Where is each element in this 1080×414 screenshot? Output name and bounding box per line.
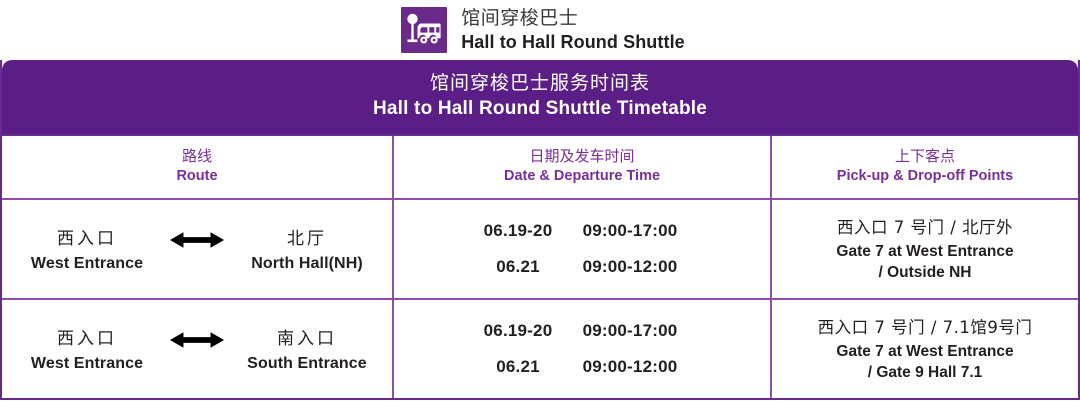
- route-origin-cn: 西入口: [57, 224, 117, 249]
- brand-title-group: 馆间穿梭巴士 Hall to Hall Round Shuttle: [461, 9, 685, 51]
- route-destination-en: South Entrance: [247, 355, 367, 373]
- schedule-date: 06.21: [470, 358, 566, 375]
- column-header-points: 上下客点 Pick-up & Drop-off Points: [772, 136, 1078, 198]
- schedule-time: 09:00-12:00: [566, 258, 694, 275]
- points-en-line1: Gate 7 at West Entrance: [836, 342, 1013, 363]
- route-origin-cn: 西入口: [57, 324, 117, 349]
- points-en-line2: / Gate 9 Hall 7.1: [868, 363, 983, 384]
- schedule-line: 06.21 09:00-12:00: [470, 258, 694, 275]
- schedule-time: 09:00-17:00: [566, 222, 694, 239]
- column-header-datetime-en: Date & Departure Time: [504, 168, 660, 185]
- schedule-cell: 06.19-20 09:00-17:00 06.21 09:00-12:00: [392, 300, 772, 398]
- shuttle-bus-stop-icon: [401, 7, 447, 53]
- schedule-date: 06.21: [470, 258, 566, 275]
- table-row: 西入口 West Entrance 北厅 North Hall(NH) 06.1…: [2, 200, 1078, 300]
- schedule-date: 06.19-20: [470, 322, 566, 339]
- route-origin: 西入口 West Entrance: [12, 324, 162, 373]
- timetable-banner: 馆间穿梭巴士服务时间表 Hall to Hall Round Shuttle T…: [2, 60, 1078, 134]
- column-header-route: 路线 Route: [2, 136, 392, 198]
- table-row: 西入口 West Entrance 南入口 South Entrance 06.…: [2, 300, 1078, 398]
- route-destination: 南入口 South Entrance: [232, 324, 382, 373]
- shuttle-timetable: 馆间穿梭巴士服务时间表 Hall to Hall Round Shuttle T…: [0, 60, 1080, 400]
- column-header-points-cn: 上下客点: [895, 148, 955, 165]
- brand-title-en: Hall to Hall Round Shuttle: [461, 33, 685, 51]
- brand-title-cn: 馆间穿梭巴士: [461, 9, 685, 28]
- column-header-route-en: Route: [176, 168, 217, 185]
- schedule-line: 06.19-20 09:00-17:00: [470, 322, 694, 339]
- double-headed-arrow-icon: [162, 330, 232, 368]
- points-en-line2: / Outside NH: [878, 263, 971, 284]
- column-header-points-en: Pick-up & Drop-off Points: [837, 168, 1013, 185]
- schedule-date: 06.19-20: [470, 222, 566, 239]
- brand-bar: 馆间穿梭巴士 Hall to Hall Round Shuttle: [0, 0, 1080, 60]
- schedule-time: 09:00-12:00: [566, 358, 694, 375]
- points-cn: 西入口 7 号门 / 7.1馆9号门: [818, 314, 1033, 338]
- timetable-title-cn: 馆间穿梭巴士服务时间表: [2, 73, 1078, 94]
- points-cell: 西入口 7 号门 / 7.1馆9号门 Gate 7 at West Entran…: [772, 300, 1078, 398]
- route-origin: 西入口 West Entrance: [12, 224, 162, 273]
- points-cell: 西入口 7 号门 / 北厅外 Gate 7 at West Entrance /…: [772, 200, 1078, 298]
- column-header-route-cn: 路线: [182, 148, 212, 165]
- route-destination-cn: 北厅: [287, 224, 327, 249]
- schedule-line: 06.19-20 09:00-17:00: [470, 222, 694, 239]
- route-origin-en: West Entrance: [31, 355, 143, 373]
- double-headed-arrow-icon: [162, 230, 232, 268]
- route-origin-en: West Entrance: [31, 255, 143, 273]
- column-header-datetime: 日期及发车时间 Date & Departure Time: [392, 136, 772, 198]
- points-cn: 西入口 7 号门 / 北厅外: [837, 214, 1013, 238]
- timetable-title-en: Hall to Hall Round Shuttle Timetable: [2, 98, 1078, 119]
- column-header-datetime-cn: 日期及发车时间: [529, 148, 634, 165]
- route-cell: 西入口 West Entrance 北厅 North Hall(NH): [2, 200, 392, 298]
- route-destination-en: North Hall(NH): [251, 255, 363, 273]
- points-en-line1: Gate 7 at West Entrance: [836, 242, 1013, 263]
- table-column-header-row: 路线 Route 日期及发车时间 Date & Departure Time 上…: [2, 134, 1078, 200]
- route-cell: 西入口 West Entrance 南入口 South Entrance: [2, 300, 392, 398]
- schedule-line: 06.21 09:00-12:00: [470, 358, 694, 375]
- route-destination-cn: 南入口: [277, 324, 337, 349]
- route-destination: 北厅 North Hall(NH): [232, 224, 382, 273]
- schedule-cell: 06.19-20 09:00-17:00 06.21 09:00-12:00: [392, 200, 772, 298]
- schedule-time: 09:00-17:00: [566, 322, 694, 339]
